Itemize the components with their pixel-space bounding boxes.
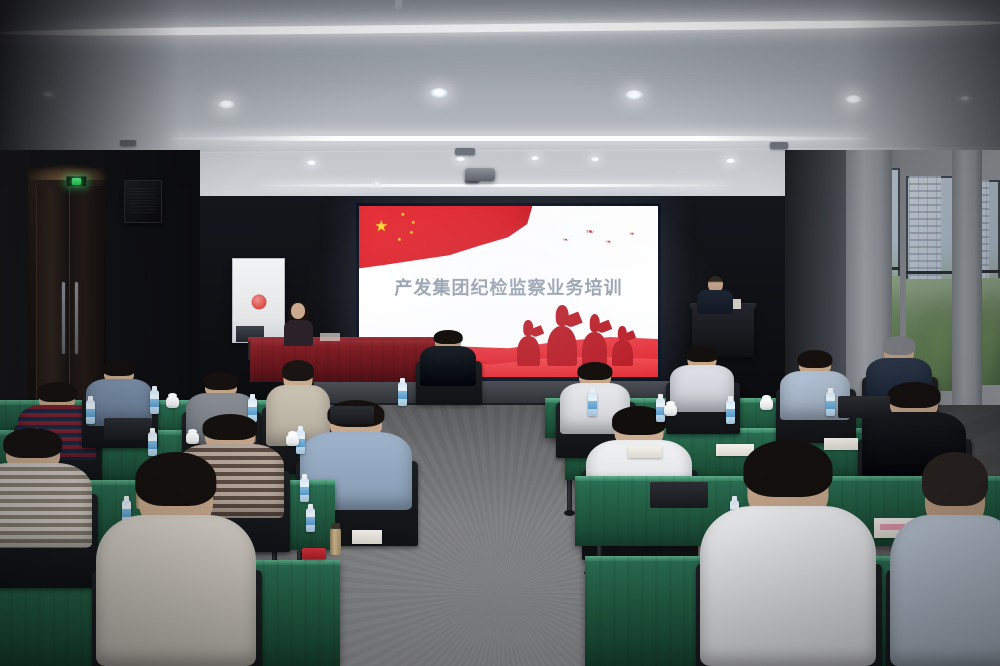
water-bottle-13 bbox=[826, 392, 835, 416]
hair bbox=[577, 362, 612, 380]
thermos-3 bbox=[330, 528, 341, 555]
attendee-lightblue-front-r bbox=[890, 452, 1000, 666]
torso bbox=[284, 320, 313, 346]
tea-cup-1 bbox=[166, 396, 179, 408]
exit-sign bbox=[66, 176, 87, 187]
torso bbox=[96, 515, 256, 666]
laptop-1 bbox=[104, 418, 152, 440]
flipchart-logo-icon bbox=[251, 295, 266, 310]
ceiling-vent-1 bbox=[455, 148, 475, 155]
smartphone-1 bbox=[302, 548, 326, 559]
wall-speaker-left bbox=[124, 180, 162, 223]
laptop-3 bbox=[838, 396, 890, 418]
flag-star-small-4: ★ bbox=[397, 238, 401, 243]
water-bottle-1 bbox=[86, 400, 95, 424]
hair bbox=[686, 346, 718, 362]
tea-cup-2 bbox=[286, 434, 299, 446]
ceiling-projector bbox=[465, 168, 495, 181]
hair bbox=[37, 382, 77, 402]
bird-icon-1: ❧ bbox=[562, 237, 569, 243]
ceiling-vent-2 bbox=[770, 142, 788, 149]
downlight-5 bbox=[306, 160, 317, 166]
laptop-2 bbox=[330, 406, 374, 424]
bird-icon-3: ❧ bbox=[605, 239, 612, 245]
document-1 bbox=[352, 530, 382, 544]
downlight-9 bbox=[725, 158, 736, 164]
torso bbox=[420, 346, 476, 386]
sprinkler-head bbox=[395, 0, 402, 10]
head bbox=[291, 303, 305, 319]
attendee-white-shirt-r2 bbox=[670, 346, 734, 412]
hair bbox=[282, 360, 314, 381]
attendee-hoodie-front bbox=[96, 452, 256, 666]
hair bbox=[797, 350, 832, 368]
water-bottle-9 bbox=[398, 382, 407, 406]
hair bbox=[203, 414, 258, 440]
door-handle-left[interactable] bbox=[62, 282, 65, 354]
attendee-back-center-dark bbox=[420, 330, 476, 386]
document-3 bbox=[628, 446, 662, 458]
water-bottle-8 bbox=[306, 508, 315, 532]
flag-star-large: ★ bbox=[375, 219, 388, 234]
attendee-white-tee-front-r bbox=[700, 440, 876, 666]
downlight-2 bbox=[430, 88, 448, 98]
downlight-6 bbox=[455, 156, 466, 162]
window-mullion-h bbox=[906, 271, 958, 274]
hair bbox=[203, 372, 238, 390]
attendee-woman-front-left bbox=[0, 428, 92, 548]
presenter-at-podium bbox=[697, 276, 733, 310]
hair bbox=[135, 452, 216, 506]
slide-title: 产发集团纪检监察业务培训 bbox=[359, 274, 658, 300]
downlight-13 bbox=[373, 182, 381, 186]
downlight-8 bbox=[590, 157, 600, 162]
head-table-papers bbox=[320, 333, 340, 341]
led-strip-lower bbox=[260, 184, 730, 187]
hair bbox=[103, 360, 136, 376]
torso bbox=[700, 506, 876, 666]
flying-birds-icon: ❧❧❧❧ bbox=[553, 220, 643, 254]
hair bbox=[434, 330, 463, 344]
conference-room-photo: ★ ★ ★ ★ ★ ❧❧❧❧ 产发集团纪检监察业务培训 bbox=[0, 0, 1000, 666]
bird-icon-2: ❧ bbox=[586, 229, 595, 237]
downlight-1 bbox=[218, 100, 235, 109]
water-bottle-12 bbox=[726, 400, 735, 424]
flag-star-small-1: ★ bbox=[401, 213, 405, 218]
flag-star-small-2: ★ bbox=[411, 221, 415, 226]
exit-sign-glyph bbox=[72, 178, 81, 185]
seated-lady-head-table bbox=[283, 303, 313, 345]
torso bbox=[0, 463, 92, 548]
hair bbox=[743, 440, 832, 497]
torso bbox=[890, 515, 1000, 666]
bird-icon-4: ❧ bbox=[629, 231, 636, 237]
downlight-3 bbox=[625, 90, 643, 100]
hair bbox=[883, 336, 916, 355]
flag-star-small-3: ★ bbox=[409, 231, 413, 236]
torso bbox=[670, 365, 734, 412]
water-bottle-10 bbox=[588, 392, 597, 416]
hair bbox=[922, 452, 988, 506]
led-strip-middle bbox=[170, 136, 870, 141]
door-handle-right[interactable] bbox=[75, 282, 78, 354]
torso bbox=[697, 290, 733, 314]
tea-cup-4 bbox=[664, 404, 677, 416]
window-building-view bbox=[909, 176, 941, 279]
soldier-silhouette-1 bbox=[517, 336, 540, 366]
tea-cup-5 bbox=[760, 398, 773, 410]
hair bbox=[3, 428, 62, 458]
hair bbox=[888, 382, 941, 408]
water-bottle-16 bbox=[300, 478, 309, 502]
attendee-blue-shirt-left bbox=[86, 360, 152, 426]
soldier-silhouette-3 bbox=[582, 332, 607, 366]
downlight-7 bbox=[530, 156, 540, 161]
soldier-silhouette-2 bbox=[547, 326, 577, 366]
water-bottle-2 bbox=[150, 390, 159, 414]
